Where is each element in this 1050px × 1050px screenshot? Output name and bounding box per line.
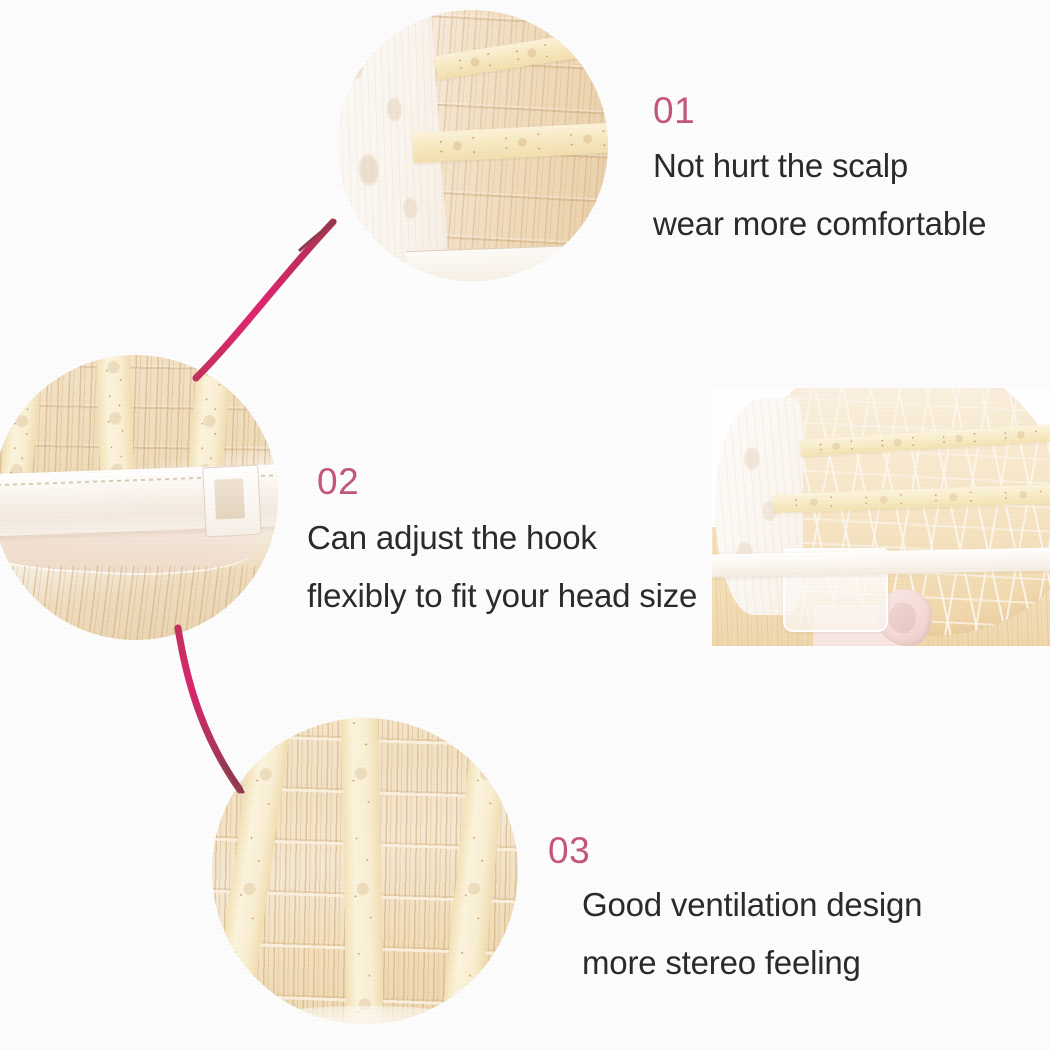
adjustable-hook-slot	[214, 478, 245, 519]
cap-bottom-strap	[407, 243, 608, 281]
eyelet-lace-strip-center	[340, 718, 383, 1024]
weft-threads-lower	[0, 566, 278, 640]
feature-01-line-2: wear more comfortable	[653, 207, 986, 240]
feature-block-03: 03 Good ventilation design more stereo f…	[548, 832, 922, 979]
feature-03-line-2: more stereo feeling	[582, 946, 922, 979]
feature-01-line-1: Not hurt the scalp	[653, 149, 986, 182]
feature-number-03: 03	[548, 832, 922, 869]
callout-circle-01	[337, 10, 608, 281]
callout-circle-02	[0, 355, 278, 640]
feature-block-02: 02 Can adjust the hook flexibly to fit y…	[307, 463, 697, 612]
connector-02-to-01-taper	[300, 221, 335, 250]
feature-02-line-1: Can adjust the hook	[307, 521, 697, 554]
feature-03-line-1: Good ventilation design	[582, 888, 922, 921]
feature-number-02: 02	[317, 463, 697, 500]
feature-block-01: 01 Not hurt the scalp wear more comforta…	[653, 92, 986, 240]
feature-02-line-2: flexibly to fit your head size	[307, 579, 697, 612]
feature-number-01: 01	[653, 92, 986, 129]
callout-circle-03	[212, 718, 518, 1024]
product-feature-infographic: 01 Not hurt the scalp wear more comforta…	[0, 0, 1050, 1050]
wig-cap-main-photo	[712, 388, 1050, 646]
